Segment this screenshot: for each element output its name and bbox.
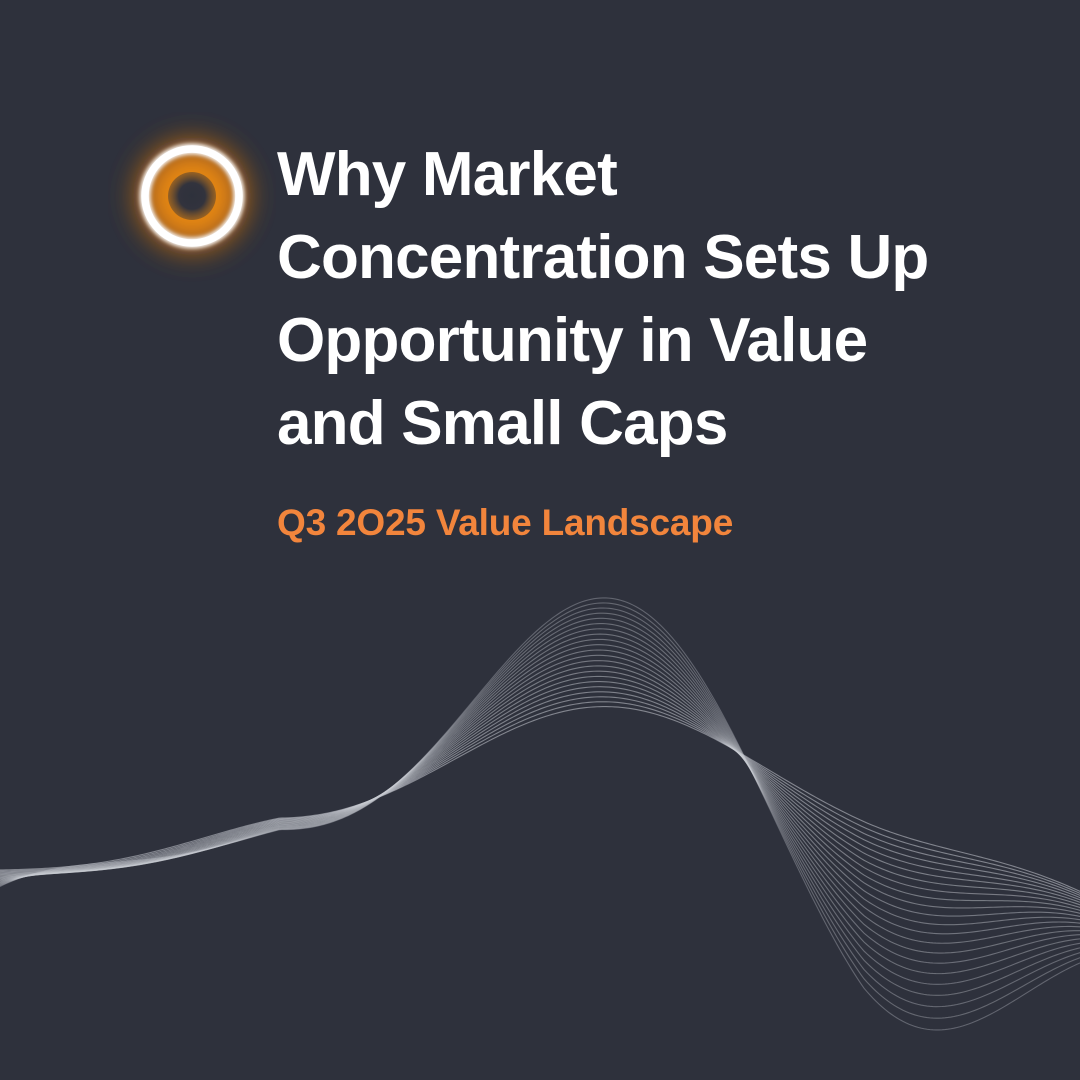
wave-line [0, 613, 1080, 995]
wave-line [0, 650, 1080, 925]
glowing-ring-logo-icon [108, 112, 276, 284]
wave-line [0, 702, 1080, 899]
wave-line [0, 682, 1080, 907]
wave-line [0, 598, 1080, 1030]
wave-line [0, 707, 1080, 897]
wave-line [0, 645, 1080, 934]
wave-line [0, 624, 1080, 974]
wave-line [0, 676, 1080, 909]
page-subtitle: Q3 2O25 Value Landscape [277, 465, 977, 545]
page-title: Why Market Concentration Sets Up Opportu… [277, 133, 977, 465]
wave-line [0, 666, 1080, 914]
wave-line [0, 687, 1080, 905]
wave-line [0, 618, 1080, 984]
wave-line [0, 671, 1080, 911]
wave-line [0, 655, 1080, 919]
cover-canvas: Why Market Concentration Sets Up Opportu… [0, 0, 1080, 1080]
wave-line [0, 603, 1080, 1018]
wave-line [0, 608, 1080, 1007]
wave-line [0, 629, 1080, 963]
wave-line [0, 634, 1080, 953]
wave-line [0, 697, 1080, 901]
wave-line [0, 692, 1080, 903]
wave-line [0, 639, 1080, 943]
wave-line [0, 661, 1080, 917]
hero-text-block: Why Market Concentration Sets Up Opportu… [277, 133, 977, 545]
